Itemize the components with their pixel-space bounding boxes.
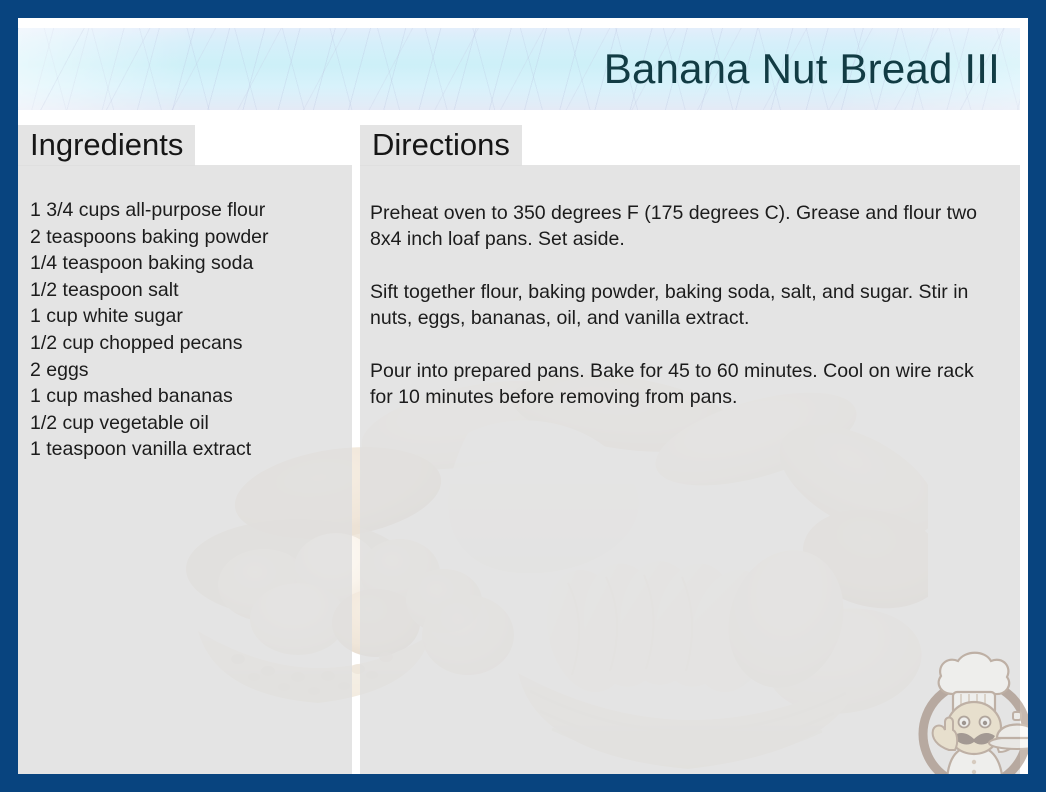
ingredients-heading: Ingredients: [30, 127, 183, 163]
page-title: Banana Nut Bread III: [604, 48, 1000, 90]
list-item: 1/2 teaspoon salt: [30, 277, 346, 304]
direction-step: Pour into prepared pans. Bake for 45 to …: [370, 358, 998, 411]
directions-steps: Preheat oven to 350 degrees F (175 degre…: [370, 200, 998, 410]
list-item: 2 eggs: [30, 357, 346, 384]
list-item: 1 3/4 cups all-purpose flour: [30, 197, 346, 224]
direction-step: Preheat oven to 350 degrees F (175 degre…: [370, 200, 998, 253]
list-item: 1 teaspoon vanilla extract: [30, 436, 346, 463]
list-item: 2 teaspoons baking powder: [30, 224, 346, 251]
directions-heading: Directions: [372, 127, 510, 163]
slide-canvas: Banana Nut Bread III: [18, 18, 1028, 774]
ingredients-panel: Ingredients 1 3/4 cups all-purpose flour…: [18, 125, 352, 778]
list-item: 1 cup mashed bananas: [30, 383, 346, 410]
ingredients-list: 1 3/4 cups all-purpose flour 2 teaspoons…: [30, 197, 346, 463]
list-item: 1/2 cup vegetable oil: [30, 410, 346, 437]
direction-step: Sift together flour, baking powder, baki…: [370, 279, 998, 332]
list-item: 1/4 teaspoon baking soda: [30, 250, 346, 277]
recipe-slide: Banana Nut Bread III: [0, 0, 1046, 792]
list-item: 1/2 cup chopped pecans: [30, 330, 346, 357]
title-banner: Banana Nut Bread III: [18, 28, 1020, 110]
directions-panel: Directions Preheat oven to 350 degrees F…: [360, 125, 1020, 778]
list-item: 1 cup white sugar: [30, 303, 346, 330]
